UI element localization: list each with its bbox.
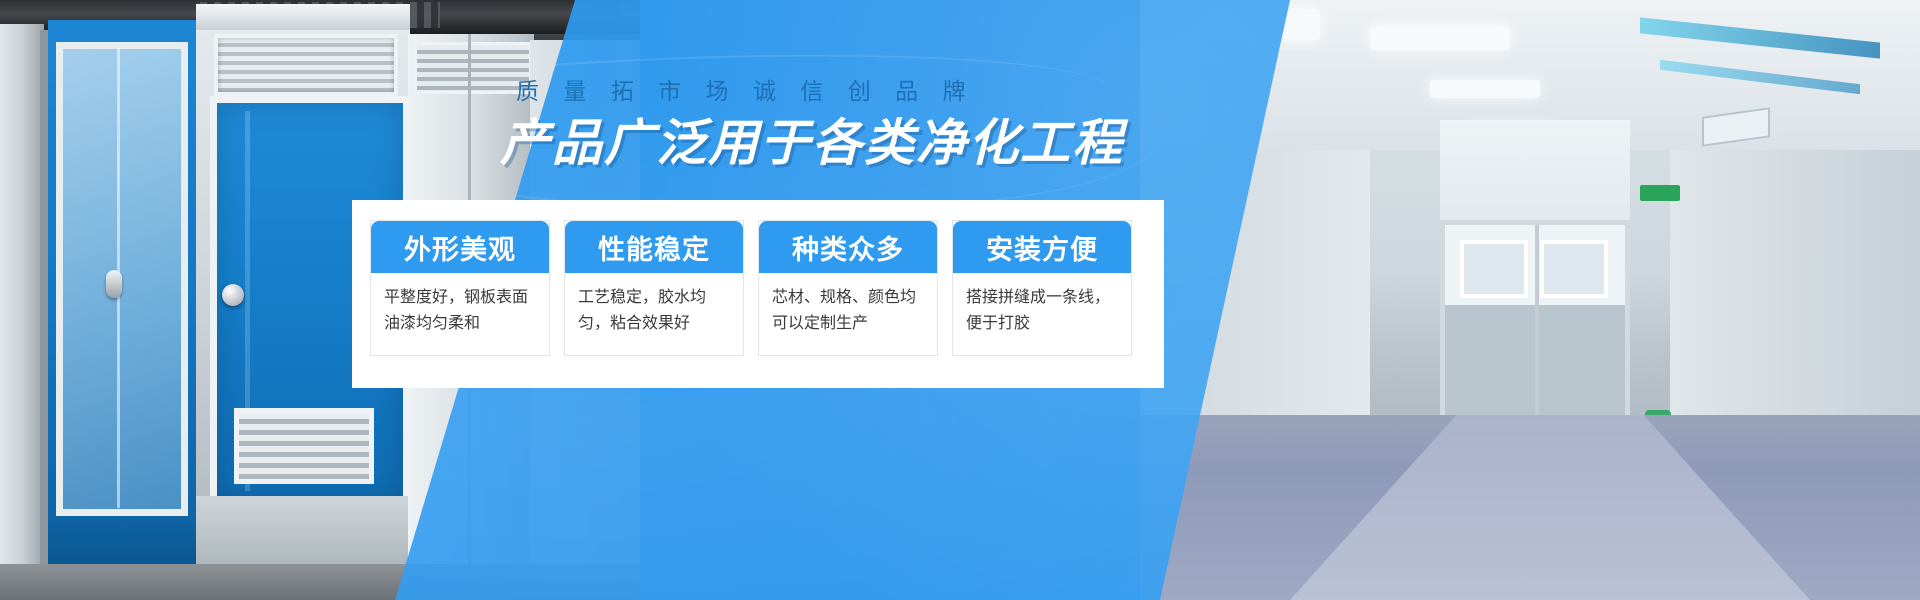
ceiling-lamp-2 (1370, 26, 1510, 50)
feature-card-1-text: 平整度好，钢板表面油漆均匀柔和 (371, 273, 549, 355)
feature-card-2-text: 工艺稳定，胶水均匀，粘合效果好 (565, 273, 743, 355)
feature-cards-panel: 外形美观 平整度好，钢板表面油漆均匀柔和 性能稳定 工艺稳定，胶水均匀，粘合效果… (352, 200, 1164, 388)
cabin-vent-grey (414, 42, 532, 94)
cabin-far-left (0, 24, 44, 584)
cabin-glass-door (48, 20, 198, 586)
exit-sign (1640, 185, 1680, 201)
glass-panel (56, 42, 188, 516)
feature-card-3-title: 种类众多 (759, 221, 937, 273)
door-window-left (1460, 240, 1528, 298)
banner-stage: 质 量 拓 市 场 诚 信 创 品 牌 产品广泛用于各类净化工程 外形美观 平整… (0, 0, 1920, 600)
cabin-roof (196, 4, 410, 30)
banner-headline: 产品广泛用于各类净化工程 (500, 118, 1124, 168)
feature-card-2-title: 性能稳定 (565, 221, 743, 273)
feature-card-3-text: 芯材、规格、颜色均可以定制生产 (759, 273, 937, 355)
door-handle (106, 270, 122, 298)
ceiling-lamp-3 (1430, 80, 1540, 98)
feature-card-4-text: 搭接拼缝成一条线，便于打胶 (953, 273, 1131, 355)
feature-card-4[interactable]: 安装方便 搭接拼缝成一条线，便于打胶 (952, 220, 1132, 356)
feature-card-3[interactable]: 种类众多 芯材、规格、颜色均可以定制生产 (758, 220, 938, 356)
door-window-right (1540, 240, 1608, 298)
cabin-louver-bottom (234, 408, 374, 484)
feature-card-2[interactable]: 性能稳定 工艺稳定，胶水均匀，粘合效果好 (564, 220, 744, 356)
feature-card-4-title: 安装方便 (953, 221, 1131, 273)
banner-subtitle: 质 量 拓 市 场 诚 信 创 品 牌 (516, 72, 1076, 106)
feature-cards-list: 外形美观 平整度好，钢板表面油漆均匀柔和 性能稳定 工艺稳定，胶水均匀，粘合效果… (370, 220, 1132, 356)
cabin-vent-top (214, 34, 398, 96)
corridor-floor (1140, 415, 1920, 600)
feature-card-1[interactable]: 外形美观 平整度好，钢板表面油漆均匀柔和 (370, 220, 550, 356)
door-knob (222, 284, 244, 306)
feature-card-1-title: 外形美观 (371, 221, 549, 273)
